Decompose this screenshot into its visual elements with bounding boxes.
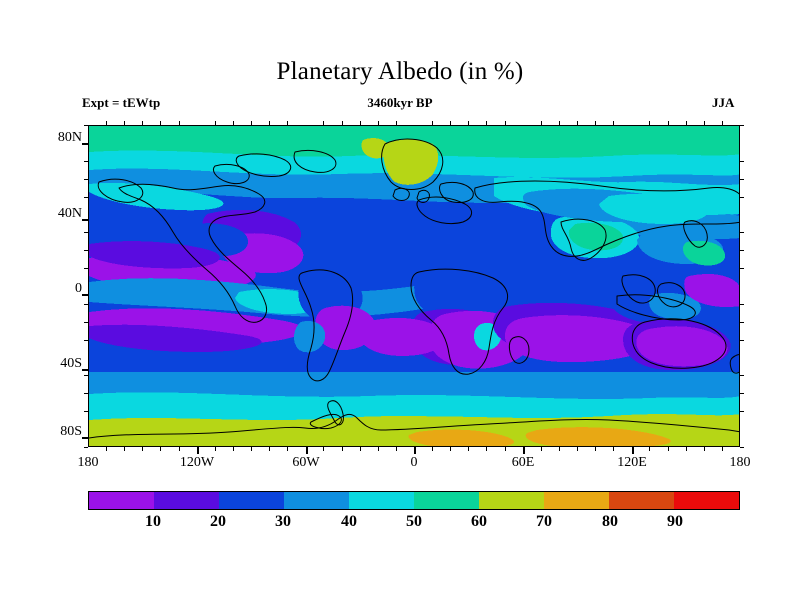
y-minor-tick: [84, 161, 88, 162]
colorbar-label-20: 20: [188, 513, 248, 531]
y-minor-tick: [740, 447, 744, 448]
colorbar-swatch->90: [674, 492, 739, 509]
colorbar-swatch-20-30: [219, 492, 284, 509]
experiment-label: Expt = tEWtp: [82, 95, 160, 111]
x-minor-tick: [287, 447, 288, 451]
y-tick-40n: 40N: [30, 206, 82, 222]
y-minor-tick: [84, 304, 88, 305]
x-minor-tick: [142, 447, 143, 451]
y-minor-tick: [84, 447, 88, 448]
y-minor-tick: [84, 340, 88, 341]
y-minor-tick: [740, 393, 744, 394]
x-minor-tick: [432, 121, 433, 125]
x-minor-tick: [215, 121, 216, 125]
x-minor-tick: [251, 121, 252, 125]
colorbar-label-10: 10: [123, 513, 183, 531]
x-minor-tick: [704, 121, 705, 125]
x-major-tick-60w: [306, 447, 308, 454]
x-minor-tick: [360, 447, 361, 451]
x-minor-tick: [160, 447, 161, 451]
x-minor-tick: [179, 121, 180, 125]
y-minor-tick: [740, 250, 744, 251]
y-minor-tick: [740, 179, 744, 180]
x-minor-tick: [505, 121, 506, 125]
y-minor-tick: [84, 179, 88, 180]
x-minor-tick: [559, 447, 560, 451]
x-minor-tick: [124, 121, 125, 125]
x-minor-tick: [106, 447, 107, 451]
x-minor-tick: [505, 447, 506, 451]
x-minor-tick: [287, 121, 288, 125]
x-minor-tick: [323, 121, 324, 125]
colorbar-swatch-<10: [89, 492, 154, 509]
y-minor-tick: [740, 375, 744, 376]
x-minor-tick: [577, 121, 578, 125]
colorbar-label-60: 60: [449, 513, 509, 531]
colorbar-label-50: 50: [384, 513, 444, 531]
x-minor-tick: [378, 121, 379, 125]
x-minor-tick: [251, 447, 252, 451]
x-minor-tick: [378, 447, 379, 451]
x-tick-60w: 60W: [271, 455, 341, 471]
x-major-tick-0: [414, 447, 416, 454]
y-minor-tick: [84, 125, 88, 126]
colorbar-label-30: 30: [253, 513, 313, 531]
y-minor-tick: [740, 197, 744, 198]
y-minor-tick: [84, 322, 88, 323]
y-minor-tick: [740, 340, 744, 341]
x-minor-tick: [595, 121, 596, 125]
y-minor-tick: [84, 411, 88, 412]
x-minor-tick: [179, 447, 180, 451]
map-plot-area: [88, 125, 740, 447]
x-tick-180e: 180: [705, 455, 775, 471]
x-minor-tick: [541, 121, 542, 125]
x-minor-tick: [432, 447, 433, 451]
x-tick-180w: 180: [53, 455, 123, 471]
x-minor-tick: [613, 121, 614, 125]
y-minor-tick: [84, 268, 88, 269]
x-minor-tick: [323, 447, 324, 451]
x-minor-tick: [233, 121, 234, 125]
x-tick-120e: 120E: [597, 455, 667, 471]
y-major-tick-0: [82, 294, 89, 296]
colorbar: [88, 491, 740, 510]
x-minor-tick: [704, 447, 705, 451]
x-minor-tick: [649, 121, 650, 125]
x-minor-tick: [722, 121, 723, 125]
x-minor-tick: [577, 447, 578, 451]
x-minor-tick: [269, 447, 270, 451]
y-minor-tick: [84, 375, 88, 376]
x-minor-tick: [450, 447, 451, 451]
x-minor-tick: [450, 121, 451, 125]
x-major-tick-120w: [197, 447, 199, 454]
x-minor-tick: [486, 121, 487, 125]
albedo-raster: [89, 126, 740, 447]
x-minor-tick: [468, 121, 469, 125]
colorbar-label-90: 90: [645, 513, 705, 531]
x-tick-0: 0: [379, 455, 449, 471]
x-minor-tick: [649, 447, 650, 451]
y-minor-tick: [740, 322, 744, 323]
colorbar-label-40: 40: [319, 513, 379, 531]
y-minor-tick: [740, 125, 744, 126]
colorbar-swatch-10-20: [154, 492, 219, 509]
x-minor-tick: [396, 121, 397, 125]
y-tick-0: 0: [30, 281, 82, 297]
x-minor-tick: [215, 447, 216, 451]
x-minor-tick: [559, 121, 560, 125]
y-major-tick-80s: [82, 437, 89, 439]
y-tick-80s: 80S: [30, 424, 82, 440]
x-major-tick-60e: [523, 447, 525, 454]
y-minor-tick: [84, 393, 88, 394]
y-minor-tick: [740, 304, 744, 305]
y-tick-40s: 40S: [30, 356, 82, 372]
x-minor-tick: [269, 121, 270, 125]
x-tick-120w: 120W: [162, 455, 232, 471]
x-tick-60e: 60E: [488, 455, 558, 471]
colorbar-swatch-70-80: [544, 492, 609, 509]
y-minor-tick: [740, 232, 744, 233]
y-tick-80n: 80N: [30, 130, 82, 146]
colorbar-swatch-30-40: [284, 492, 349, 509]
x-minor-tick: [233, 447, 234, 451]
x-minor-tick: [468, 447, 469, 451]
y-major-tick-40s: [82, 369, 89, 371]
albedo-map-figure: Planetary Albedo (in %) 3460kyr BP Expt …: [0, 0, 800, 600]
y-minor-tick: [84, 250, 88, 251]
x-minor-tick: [486, 447, 487, 451]
colorbar-swatch-60-70: [479, 492, 544, 509]
y-minor-tick: [740, 411, 744, 412]
y-major-tick-80n: [82, 143, 89, 145]
colorbar-label-70: 70: [514, 513, 574, 531]
x-minor-tick: [686, 447, 687, 451]
x-minor-tick: [360, 121, 361, 125]
y-minor-tick: [740, 161, 744, 162]
x-minor-tick: [396, 447, 397, 451]
x-minor-tick: [613, 447, 614, 451]
x-minor-tick: [142, 121, 143, 125]
y-major-tick-40n: [82, 219, 89, 221]
season-label: JJA: [712, 95, 734, 111]
x-minor-tick: [106, 121, 107, 125]
x-minor-tick: [595, 447, 596, 451]
x-minor-tick: [541, 447, 542, 451]
x-minor-tick: [722, 447, 723, 451]
y-minor-tick: [740, 268, 744, 269]
x-minor-tick: [342, 121, 343, 125]
x-minor-tick: [686, 121, 687, 125]
colorbar-swatch-80-90: [609, 492, 674, 509]
colorbar-label-80: 80: [580, 513, 640, 531]
y-minor-tick: [84, 197, 88, 198]
x-major-tick-120e: [632, 447, 634, 454]
x-minor-tick: [342, 447, 343, 451]
colorbar-swatch-50-60: [414, 492, 479, 509]
colorbar-swatch-40-50: [349, 492, 414, 509]
x-minor-tick: [160, 121, 161, 125]
x-minor-tick: [668, 447, 669, 451]
y-minor-tick: [84, 232, 88, 233]
x-minor-tick: [124, 447, 125, 451]
page-title: Planetary Albedo (in %): [0, 58, 800, 86]
x-minor-tick: [668, 121, 669, 125]
